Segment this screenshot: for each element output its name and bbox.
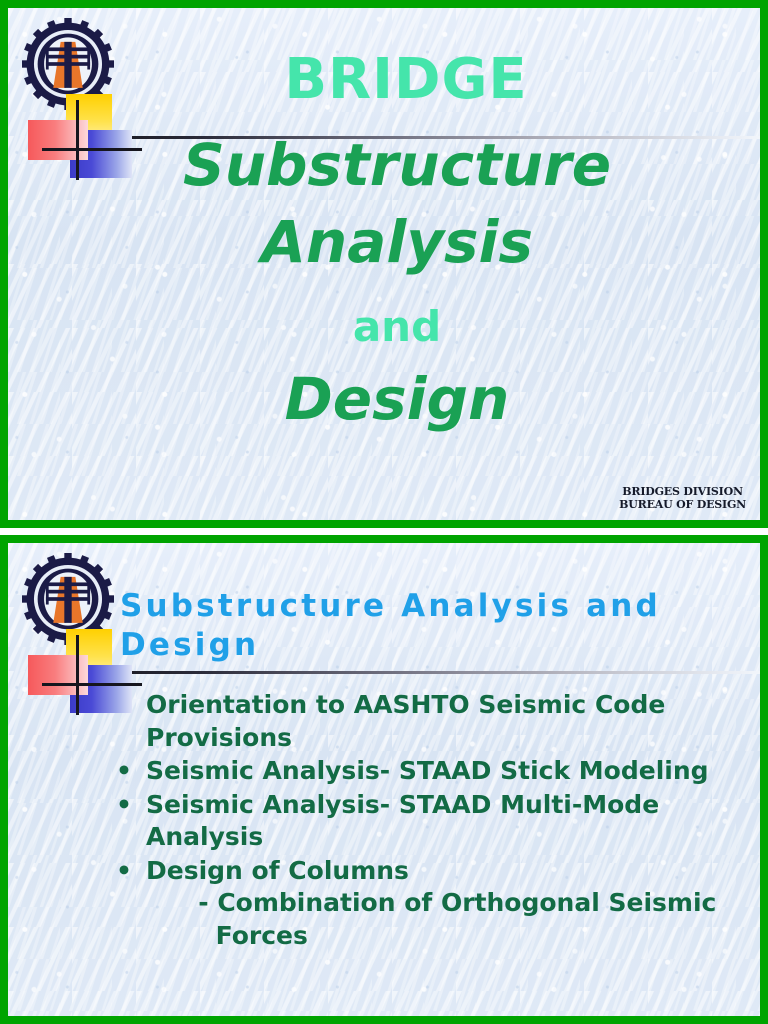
list-item: • Seismic Analysis- STAAD Stick Modeling (100, 755, 760, 788)
slide-title: BRIDGE Substructure Analysis and Design … (0, 0, 768, 528)
list-item-continuation-line-2: Forces (146, 920, 760, 953)
crosshair-vertical-line (76, 635, 79, 715)
title-divider-rule (74, 136, 762, 139)
red-gradient-block-decoration (28, 120, 88, 160)
footer-bridges-division: BRIDGES DIVISION (619, 485, 746, 499)
list-item: • Orientation to AASHTO Seismic Code Pro… (100, 689, 760, 754)
title-line-analysis: Analysis (8, 213, 768, 272)
bullet-dot-icon: • (116, 755, 132, 788)
slide-footer: BRIDGES DIVISION BUREAU OF DESIGN (619, 485, 746, 513)
red-gradient-block-decoration (28, 655, 88, 695)
crosshair-horizontal-line (42, 683, 142, 686)
crosshair-horizontal-line (42, 148, 142, 151)
slide-deck: BRIDGE Substructure Analysis and Design … (0, 0, 768, 1024)
list-item-continuation-line-1: - Combination of Orthogonal Seismic (146, 887, 760, 920)
page-title: Substructure Analysis and Design (120, 587, 720, 665)
title-line-design: Design (8, 370, 768, 429)
logo-cluster (14, 547, 134, 717)
agenda-bullet-list: • Orientation to AASHTO Seismic Code Pro… (100, 689, 760, 953)
logo-cluster (14, 12, 134, 182)
list-item-label: Orientation to AASHTO Seismic Code Provi… (146, 689, 760, 754)
list-item-label: Design of Columns (146, 855, 760, 888)
crosshair-vertical-line (76, 100, 79, 180)
bullet-dot-icon: • (116, 855, 132, 888)
list-item-label: Seismic Analysis- STAAD Multi-Mode Analy… (146, 789, 760, 854)
title-line-and: and (8, 306, 768, 348)
slide-agenda: Substructure Analysis and Design • Orien… (0, 535, 768, 1024)
list-item-label: Seismic Analysis- STAAD Stick Modeling (146, 755, 760, 788)
list-item: • Seismic Analysis- STAAD Multi-Mode Ana… (100, 789, 760, 854)
footer-bureau-of-design: BUREAU OF DESIGN (619, 498, 746, 512)
bullet-dot-icon: • (116, 789, 132, 822)
list-item: • Design of Columns - Combination of Ort… (100, 855, 760, 953)
heading-divider-rule (74, 671, 762, 674)
